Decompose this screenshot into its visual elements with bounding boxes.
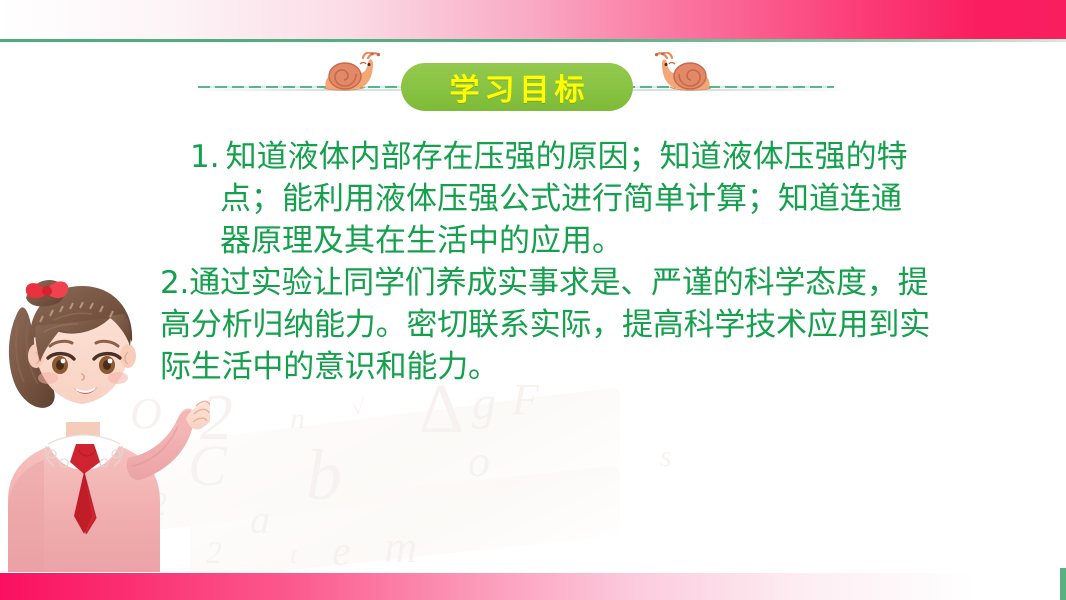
objective-2-text: 通过实验让同学们养成实事求是、严谨的科学态度，提高分析归纳能力。密切联系实际，提… — [160, 265, 930, 385]
student-girl-illustration — [0, 272, 210, 577]
bottom-banner-edge — [1060, 568, 1066, 600]
slide-canvas: O 2 n √ ∆ g F c C b o s 2 a 2 t e m 2 — [0, 0, 1066, 600]
page-title: 学习目标 — [445, 65, 590, 109]
top-banner-rule — [0, 39, 1066, 42]
objective-item-1: 1.知道液体内部存在压强的原因；知道液体压强的特点；能利用液体压强公式进行简单计… — [190, 136, 920, 262]
background-watermark: O 2 n √ ∆ g F c C b o s 2 a 2 t e m 2 — [120, 380, 740, 590]
objective-1-text: 知道液体内部存在压强的原因；知道液体压强的特点；能利用液体压强公式进行简单计算；… — [220, 139, 908, 259]
top-banner — [0, 0, 1066, 39]
snail-left-icon — [318, 52, 390, 99]
objective-1-number: 1. — [190, 139, 220, 175]
slide-title-pill: 学习目标 — [401, 63, 633, 111]
objectives-list: 1.知道液体内部存在压强的原因；知道液体压强的特点；能利用液体压强公式进行简单计… — [160, 136, 950, 388]
snail-right-icon — [645, 52, 717, 99]
bottom-banner — [0, 573, 1060, 600]
objective-item-2: 2.通过实验让同学们养成实事求是、严谨的科学态度，提高分析归纳能力。密切联系实际… — [160, 262, 930, 388]
